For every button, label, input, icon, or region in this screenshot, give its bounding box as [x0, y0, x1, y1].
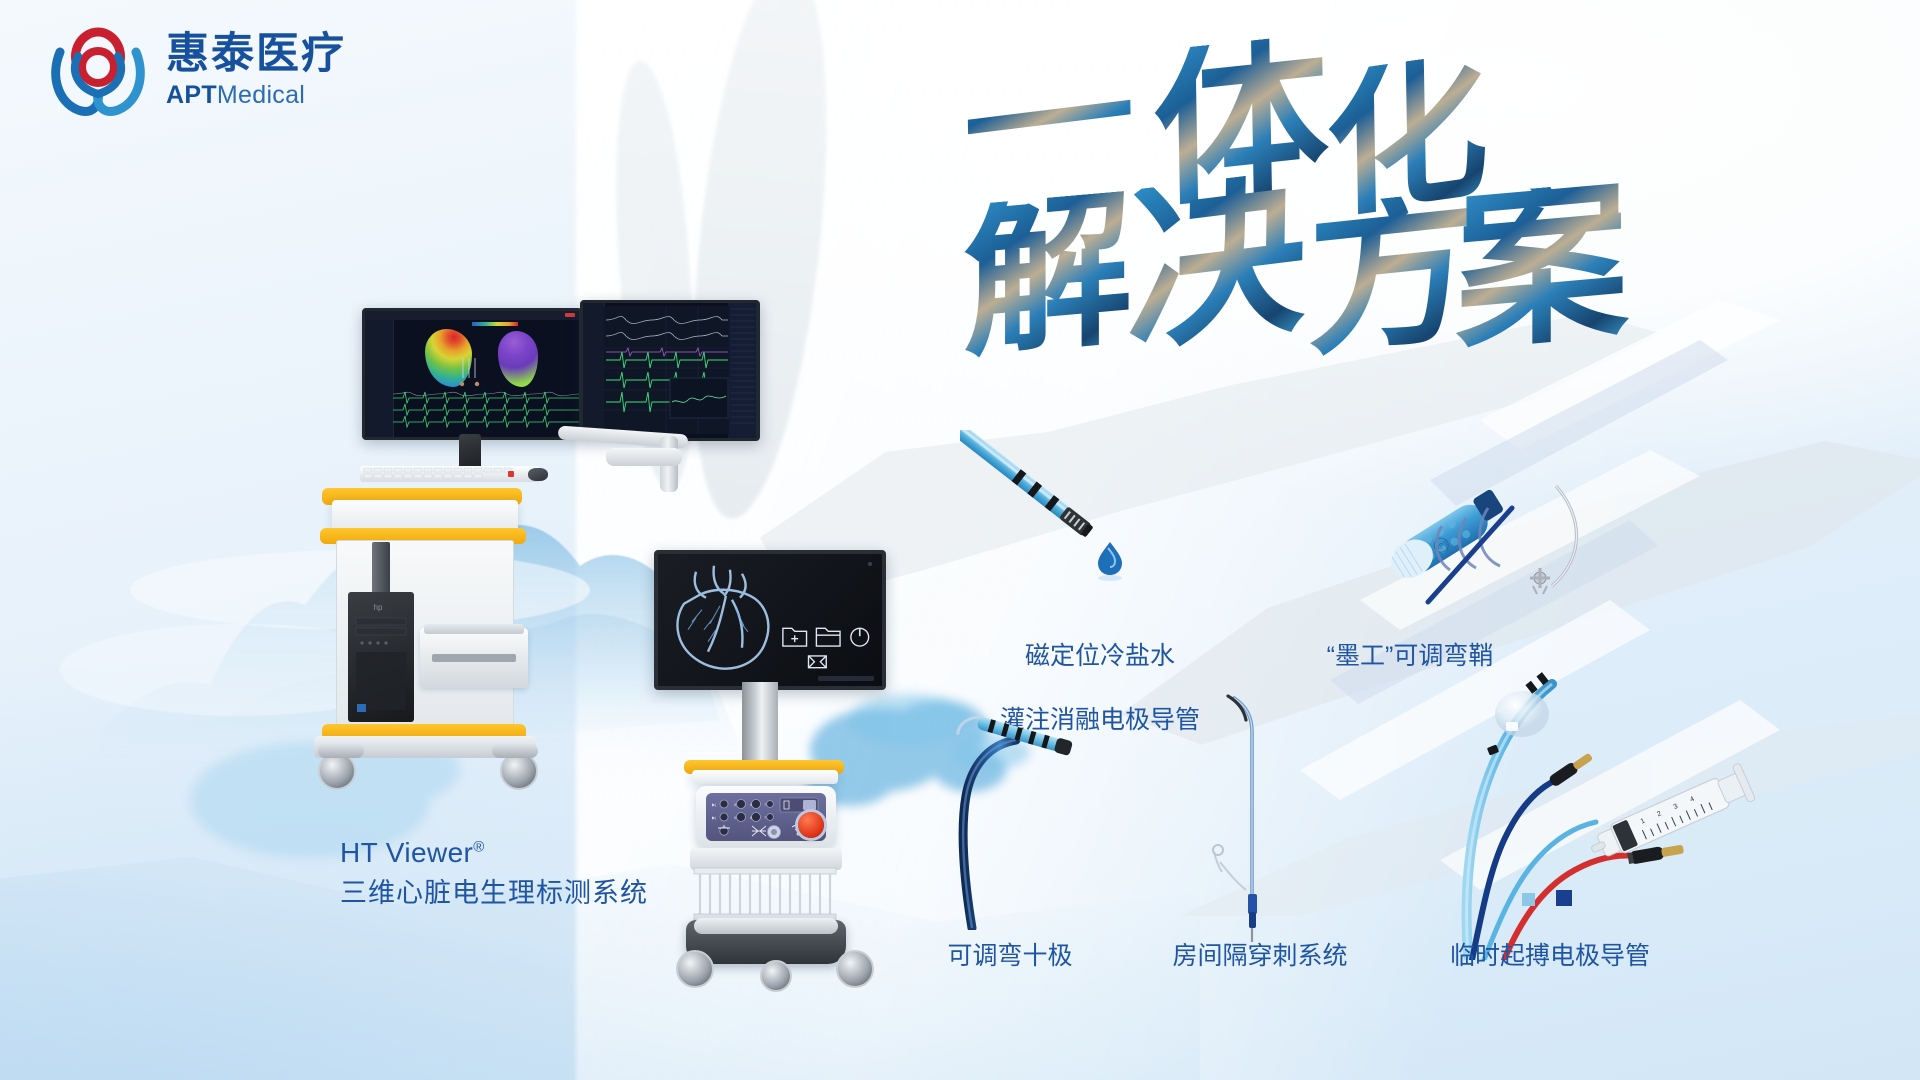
ecg-waveform-panels	[604, 306, 729, 436]
temporary-pacing-catheter: 1234	[1460, 660, 1880, 960]
ecg-monitor-right[interactable]	[580, 300, 760, 441]
printer-output-slot	[432, 654, 516, 662]
svg-text:hp: hp	[374, 603, 383, 612]
touchscreen-screen	[658, 554, 882, 686]
ecg-channel-labels	[729, 303, 757, 438]
activation-map-3d	[498, 331, 539, 386]
balloon-tip	[1495, 691, 1549, 737]
ecg-monitor-sidebar	[583, 303, 605, 438]
touchscreen-action-icons[interactable]	[775, 617, 874, 675]
touchscreen-brand-strip	[818, 676, 874, 681]
ht-viewer-label: HT Viewer® 三维心脏电生理标测系统	[340, 835, 648, 912]
headline-char-4: 决	[1126, 168, 1308, 357]
generator-control-panel[interactable]: ▶|▶| 55 66 77	[696, 786, 836, 848]
settings-icon	[808, 656, 826, 668]
apt-medical-heart-logo-icon	[44, 22, 152, 118]
monitor-arm-segment	[606, 448, 682, 466]
poster-canvas: 惠泰医疗 APTMedical 一 体 化 解 决 方 案	[0, 0, 1920, 1080]
svg-text:▶|: ▶|	[712, 802, 716, 807]
headline-char-6: 案	[1455, 180, 1628, 356]
registered-mark: ®	[473, 839, 484, 856]
mapping-ecg-traces	[393, 390, 579, 437]
heart-xray-image	[662, 559, 792, 680]
mapping-monitor-left[interactable]	[362, 308, 582, 440]
touchscreen-monitor[interactable]	[654, 550, 886, 690]
cart-caster-bracket-right	[492, 744, 538, 758]
brand-name-en: APTMedical	[166, 83, 346, 108]
mouse[interactable]	[528, 468, 548, 481]
decapolar-steerable-catheter	[920, 700, 1140, 930]
transseptal-puncture-system	[1190, 690, 1320, 950]
open-folder-icon	[816, 629, 840, 647]
sheath-hemostasis-valve	[1530, 568, 1550, 594]
mapping-color-scale	[472, 320, 519, 328]
accent-square-light	[1522, 893, 1535, 906]
keyboard-keys	[362, 467, 538, 481]
ecg-monitor-screen	[583, 303, 757, 438]
accent-square-dark	[1556, 890, 1572, 906]
mapping-monitor-record-indicator	[565, 313, 575, 317]
pc-tower-front-detail: hp	[350, 596, 412, 720]
power-icon	[850, 629, 868, 647]
generator-base-collar	[694, 918, 838, 934]
ht-viewer-name-en: HT Viewer®	[340, 835, 648, 872]
new-case-icon	[782, 629, 806, 647]
printer-paper-tray	[424, 624, 524, 634]
label-decapolar-catheter: 可调弯十极	[880, 940, 1140, 972]
brand-logo[interactable]: 惠泰医疗 APTMedical	[44, 22, 346, 118]
emergency-stop-button[interactable]	[798, 812, 824, 838]
accessory-basket	[690, 866, 840, 924]
svg-text:▶|: ▶|	[712, 815, 716, 820]
touchscreen-sensor	[868, 562, 872, 566]
mapping-monitor-screen	[365, 311, 579, 437]
label-ablation-catheter-line1: 磁定位冷盐水	[970, 640, 1230, 672]
generator-caster-center	[760, 960, 792, 992]
generator-caster-left	[676, 950, 714, 988]
brand-name-en-bold: APT	[166, 81, 217, 109]
steerable-sheath: APT	[1370, 430, 1700, 630]
headline-char-3: 解	[963, 190, 1132, 362]
saline-droplet-icon	[1098, 542, 1122, 581]
brand-name-en-rest: Medical	[217, 81, 305, 109]
mapping-catheter-icons	[453, 356, 492, 391]
label-pacing-catheter: 临时起搏电极导管	[1400, 940, 1700, 972]
mapping-monitor-sidebar	[365, 320, 394, 437]
ht-viewer-name-en-text: HT Viewer	[340, 837, 473, 868]
label-transseptal-system: 房间隔穿刺系统	[1130, 940, 1390, 972]
headline-char-0: 一	[962, 55, 1136, 194]
cart-caster-bracket-left	[318, 744, 364, 758]
ht-viewer-name-cn: 三维心脏电生理标测系统	[340, 876, 648, 912]
generator-caster-right	[836, 950, 874, 988]
irrigated-ablation-catheter	[960, 430, 1160, 590]
generator-top-shelf	[692, 770, 838, 784]
mapping-monitor-toolbar	[365, 311, 579, 320]
brand-name-cn: 惠泰医疗	[166, 33, 346, 76]
touchscreen-pole	[742, 682, 778, 766]
headline-calligraphy: 一 体 化 解 决 方 案	[985, 48, 1625, 348]
headline-char-5: 方	[1307, 189, 1474, 362]
